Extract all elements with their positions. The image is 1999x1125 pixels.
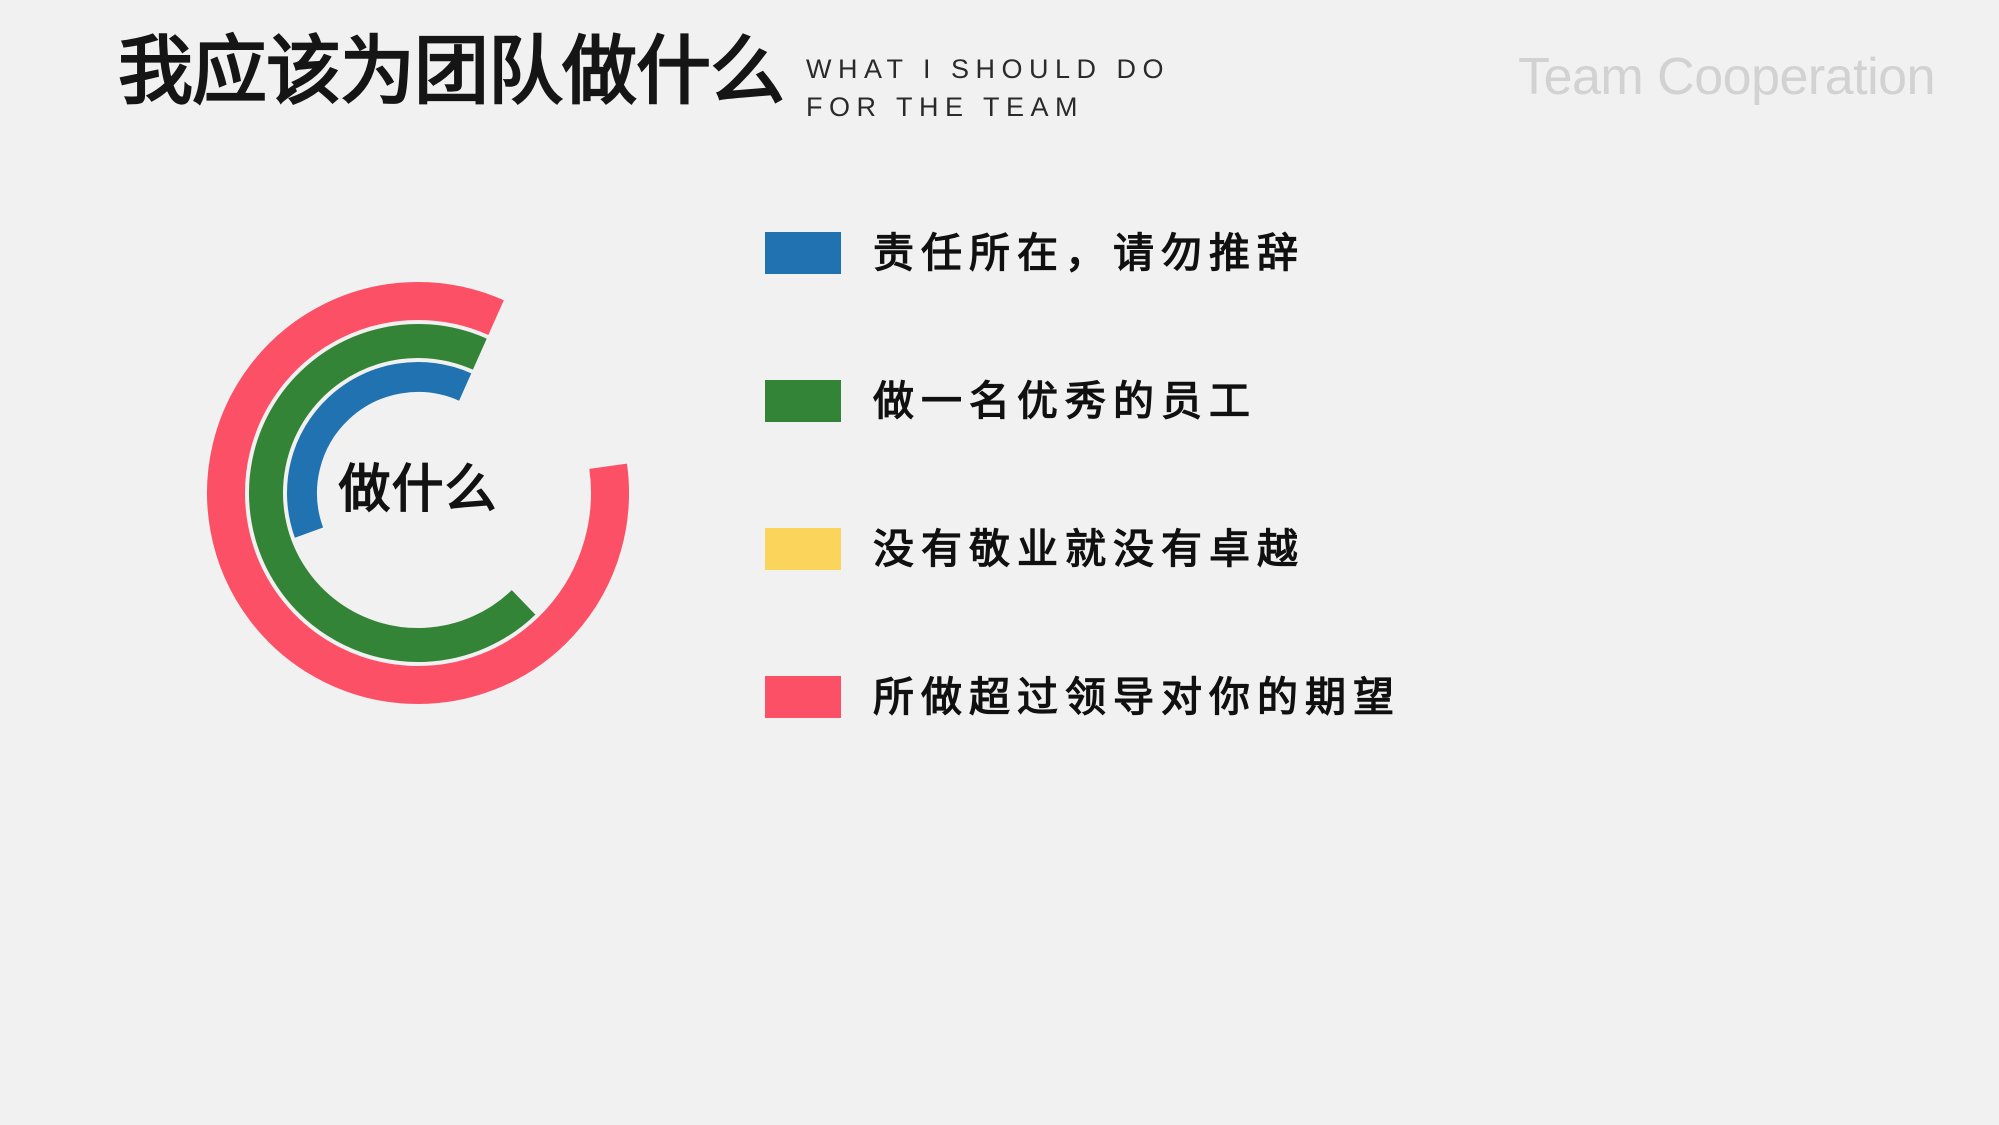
subtitle-line-1: WHAT I SHOULD DO — [806, 50, 1170, 88]
legend-swatch-blue — [765, 232, 841, 274]
legend-item-3[interactable]: 所做超过领导对你的期望 — [765, 676, 1885, 824]
legend-label-2: 没有敬业就没有卓越 — [873, 518, 1305, 580]
watermark-text: Team Cooperation — [1518, 46, 1935, 108]
legend-swatch-yellow — [765, 528, 841, 570]
legend-label-0: 责任所在，请勿推辞 — [873, 222, 1305, 284]
legend-item-2[interactable]: 没有敬业就没有卓越 — [765, 528, 1885, 676]
legend-item-0[interactable]: 责任所在，请勿推辞 — [765, 232, 1885, 380]
legend-item-1[interactable]: 做一名优秀的员工 — [765, 380, 1885, 528]
legend-swatch-red — [765, 676, 841, 718]
legend-label-3: 所做超过领导对你的期望 — [873, 666, 1401, 728]
legend: 责任所在，请勿推辞 做一名优秀的员工 没有敬业就没有卓越 所做超过领导对你的期望 — [765, 232, 1885, 824]
donut-center-label: 做什么 — [218, 460, 618, 520]
page-subtitle-en: WHAT I SHOULD DO FOR THE TEAM — [806, 28, 1170, 126]
slide-header: 我应该为团队做什么 WHAT I SHOULD DO FOR THE TEAM … — [0, 0, 1999, 160]
slide-canvas: 我应该为团队做什么 WHAT I SHOULD DO FOR THE TEAM … — [0, 0, 1999, 1125]
legend-swatch-green — [765, 380, 841, 422]
title-block: 我应该为团队做什么 WHAT I SHOULD DO FOR THE TEAM — [118, 28, 1170, 126]
page-title-cn: 我应该为团队做什么 — [118, 28, 784, 114]
donut-chart: 做什么 — [218, 288, 618, 698]
subtitle-line-2: FOR THE TEAM — [806, 88, 1170, 126]
legend-label-1: 做一名优秀的员工 — [873, 370, 1257, 432]
